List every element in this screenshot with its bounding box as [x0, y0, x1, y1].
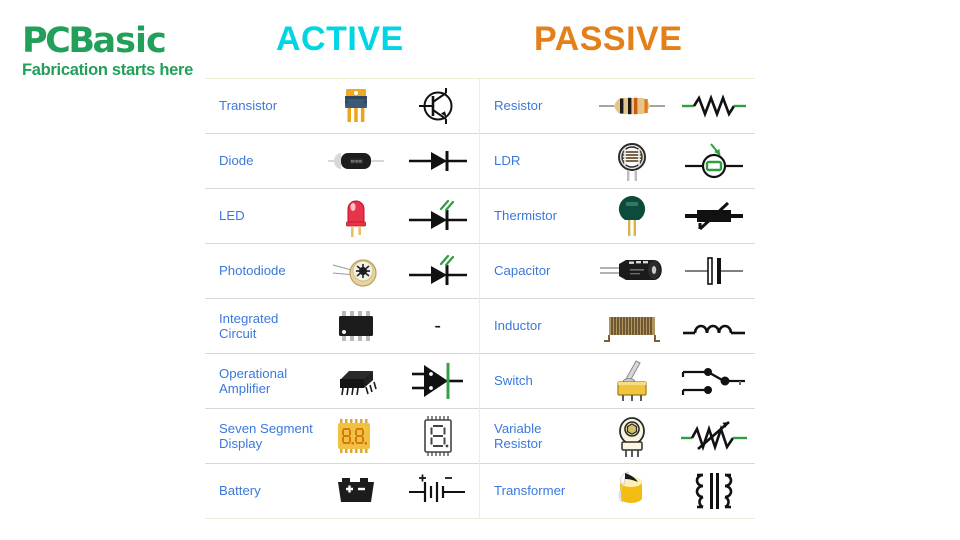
- component-name: Photodiode: [205, 263, 317, 279]
- soic-chip-photo: [317, 308, 397, 344]
- component-name: Thermistor: [480, 208, 592, 224]
- battery-symbol: [396, 474, 479, 508]
- photodiode-photo: [317, 251, 397, 291]
- inductor-symbol: [672, 311, 755, 341]
- photodiode-symbol: [396, 253, 479, 289]
- table-row: Capacitor: [480, 244, 755, 299]
- battery-photo: [317, 476, 397, 506]
- thermistor-photo: [592, 194, 672, 238]
- table-row: Seven Segment Display: [205, 409, 479, 464]
- potentiometer-photo: [592, 413, 672, 459]
- table-row: LED: [205, 189, 479, 244]
- table-row: Inductor: [480, 299, 755, 354]
- coil-inductor-photo: [592, 309, 672, 343]
- passive-components-column: Resistor LDR Thermistor Capacitor Induct…: [480, 79, 755, 518]
- transformer-symbol: [672, 471, 755, 511]
- opamp-symbol: [396, 361, 479, 401]
- brand-logo: PCBasic Fabrication starts here: [22, 24, 222, 80]
- logo-wordmark-primary: PCB: [22, 21, 93, 61]
- active-components-column: Transistor Diode DIODE LED Photodiode In…: [205, 79, 480, 518]
- component-name: Inductor: [480, 318, 592, 334]
- seven-segment-photo: [317, 417, 397, 455]
- table-row: Transistor: [205, 79, 479, 134]
- component-name: Operational Amplifier: [205, 366, 317, 397]
- component-name: Transformer: [480, 483, 592, 499]
- dash-symbol: -: [396, 315, 479, 338]
- component-name: Seven Segment Display: [205, 421, 317, 452]
- column-header-passive: PASSIVE: [534, 20, 682, 59]
- components-table: Transistor Diode DIODE LED Photodiode In…: [205, 78, 755, 519]
- to220-transistor-photo: [317, 83, 397, 129]
- table-row: Resistor: [480, 79, 755, 134]
- slide-root: PCBasic Fabrication starts here ACTIVE P…: [0, 0, 960, 540]
- table-row: Photodiode: [205, 244, 479, 299]
- table-row: Variable Resistor: [480, 409, 755, 464]
- table-row: Thermistor: [480, 189, 755, 244]
- switch-symbol: [672, 362, 755, 400]
- axial-resistor-photo: [592, 93, 672, 119]
- diode-symbol: [396, 147, 479, 175]
- variable-resistor-symbol: [672, 418, 755, 454]
- toroid-transformer-photo: [592, 470, 672, 512]
- seven-segment-symbol: [396, 414, 479, 458]
- svg-text:DIODE: DIODE: [351, 160, 363, 164]
- diode-photo: DIODE: [317, 148, 397, 174]
- component-name: Battery: [205, 483, 317, 499]
- component-name: Resistor: [480, 98, 592, 114]
- logo-tagline: Fabrication starts here: [22, 61, 222, 80]
- electrolytic-cap-photo: [592, 257, 672, 285]
- table-row: Switch: [480, 354, 755, 409]
- dip-chip-photo: [317, 364, 397, 398]
- table-row: Diode DIODE: [205, 134, 479, 189]
- thermistor-symbol: [672, 199, 755, 233]
- component-name: Transistor: [205, 98, 317, 114]
- table-row: Operational Amplifier: [205, 354, 479, 409]
- toggle-switch-photo: [592, 358, 672, 404]
- capacitor-symbol: [672, 254, 755, 288]
- logo-wordmark-secondary: asic: [93, 21, 166, 61]
- component-name: Diode: [205, 153, 317, 169]
- ldr-symbol: [672, 140, 755, 182]
- table-row: Transformer: [480, 464, 755, 518]
- led-symbol: [396, 198, 479, 234]
- ldr-photo: [592, 139, 672, 183]
- component-name: LDR: [480, 153, 592, 169]
- component-name: Integrated Circuit: [205, 311, 317, 342]
- component-name: LED: [205, 208, 317, 224]
- led-photo: [317, 193, 397, 239]
- logo-wordmark: PCBasic: [22, 24, 222, 58]
- component-name: Switch: [480, 373, 592, 389]
- component-name: Capacitor: [480, 263, 592, 279]
- column-header-active: ACTIVE: [276, 20, 404, 59]
- component-name: Variable Resistor: [480, 421, 592, 452]
- table-row: Battery: [205, 464, 479, 518]
- table-row: Integrated Circuit -: [205, 299, 479, 354]
- bjt-transistor-symbol: [396, 83, 479, 129]
- resistor-symbol: [672, 93, 755, 119]
- table-row: LDR: [480, 134, 755, 189]
